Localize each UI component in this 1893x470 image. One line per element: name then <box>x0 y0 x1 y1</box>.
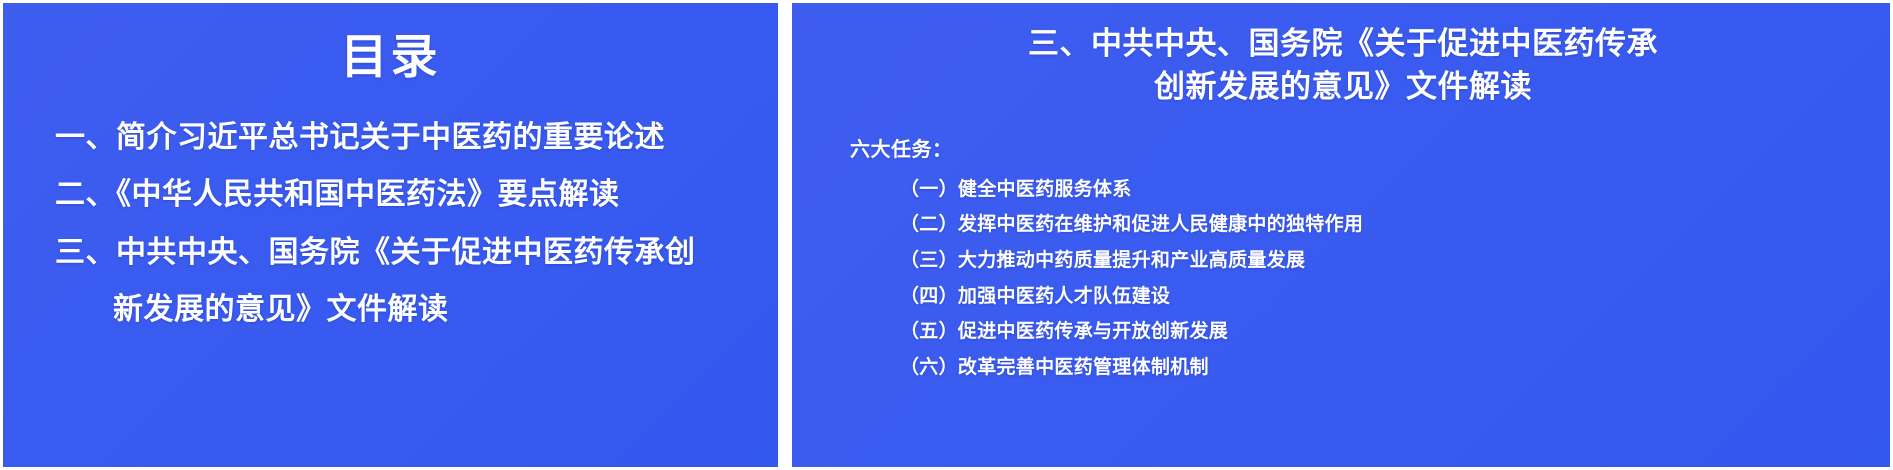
section-heading-line2: 创新发展的意见》文件解读 <box>1154 69 1532 104</box>
tasks-list: （一）健全中医药服务体系 （二）发挥中医药在维护和促进人民健康中的独特作用 （三… <box>826 166 1860 386</box>
toc-item-3[interactable]: 三、中共中央、国务院《关于促进中医药传承创 新发展的意见》文件解读 <box>55 224 752 339</box>
task-item-6[interactable]: （六）改革完善中医药管理体制机制 <box>900 350 1860 386</box>
slide-right-content: 三、中共中央、国务院《关于促进中医药传承 创新发展的意见》文件解读 六大任务： … <box>792 3 1890 467</box>
task-item-3[interactable]: （三）大力推动中药质量提升和产业高质量发展 <box>900 243 1860 279</box>
section-heading: 三、中共中央、国务院《关于促进中医药传承 创新发展的意见》文件解读 <box>854 23 1832 109</box>
slide-divider <box>778 0 792 470</box>
page-title: 目录 <box>29 31 752 83</box>
toc-item-3-line1: 三、中共中央、国务院《关于促进中医药传承创 <box>55 236 696 269</box>
task-item-1[interactable]: （一）健全中医药服务体系 <box>900 172 1860 208</box>
slide-left-content: 目录 一、简介习近平总书记关于中医药的重要论述 二、《中华人民共和国中医药法》要… <box>3 3 778 467</box>
slide-pair: 目录 一、简介习近平总书记关于中医药的重要论述 二、《中华人民共和国中医药法》要… <box>0 0 1893 470</box>
slide-right-section-three: 三、中共中央、国务院《关于促进中医药传承 创新发展的意见》文件解读 六大任务： … <box>792 0 1893 470</box>
task-item-5[interactable]: （五）促进中医药传承与开放创新发展 <box>900 314 1860 350</box>
section-heading-line1: 三、中共中央、国务院《关于促进中医药传承 <box>1028 26 1658 61</box>
toc-item-2[interactable]: 二、《中华人民共和国中医药法》要点解读 <box>55 166 752 224</box>
tasks-label: 六大任务： <box>850 133 1860 162</box>
slide-left-toc: 目录 一、简介习近平总书记关于中医药的重要论述 二、《中华人民共和国中医药法》要… <box>0 0 778 470</box>
toc-list: 一、简介习近平总书记关于中医药的重要论述 二、《中华人民共和国中医药法》要点解读… <box>29 109 752 339</box>
toc-item-1[interactable]: 一、简介习近平总书记关于中医药的重要论述 <box>55 109 752 167</box>
toc-item-3-line2: 新发展的意见》文件解读 <box>55 281 732 339</box>
task-item-4[interactable]: （四）加强中医药人才队伍建设 <box>900 279 1860 315</box>
task-item-2[interactable]: （二）发挥中医药在维护和促进人民健康中的独特作用 <box>900 207 1860 243</box>
